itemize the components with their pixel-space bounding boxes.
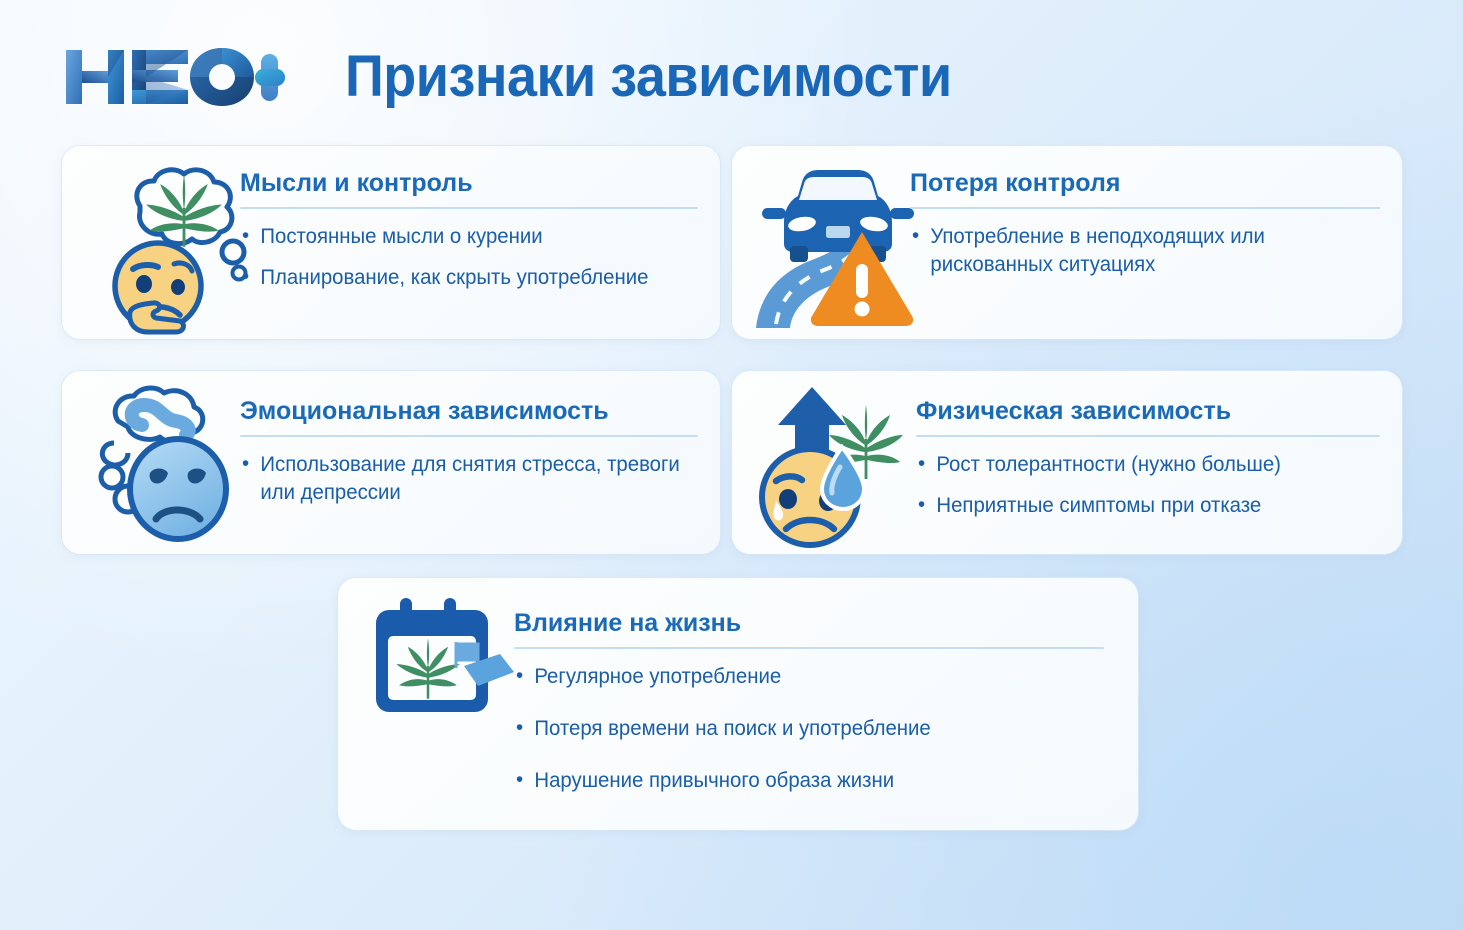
card-emotional-dependence: Эмоциональная зависимость Использование … [62,371,720,554]
neo-plus-logo [62,44,287,110]
bullet-list: Использование для снятия стресса, тревог… [240,451,698,507]
list-item: Использование для снятия стресса, тревог… [240,451,684,507]
car-on-road-with-warning-triangle-icon [746,156,926,331]
list-item: Рост толерантности (нужно больше) [916,451,1366,479]
calendar-with-cannabis-leaf-icon [368,596,518,726]
bullet-list: Регулярное употребление Потеря времени н… [514,663,1104,795]
card-impact-on-life: Влияние на жизнь Регулярное употребление… [338,578,1138,830]
list-item: Неприятные симптомы при отказе [916,492,1366,520]
heading-divider [910,207,1380,209]
card-heading: Потеря контроля [910,168,1380,198]
card-heading: Мысли и контроль [240,168,698,198]
bullet-list: Рост толерантности (нужно больше) Неприя… [916,451,1380,520]
heading-divider [916,435,1380,437]
heading-divider [514,647,1104,649]
card-physical-dependence: Физическая зависимость Рост толерантност… [732,371,1402,554]
card-heading: Влияние на жизнь [514,608,1104,638]
list-item: Потеря времени на поиск и употребление [514,715,1086,743]
list-item: Регулярное употребление [514,663,1086,691]
card-heading: Физическая зависимость [916,396,1380,426]
card-loss-of-control: Потеря контроля Употребление в неподходя… [732,146,1402,339]
list-item: Планирование, как скрыть употребление [240,264,684,292]
list-item: Постоянные мысли о курении [240,223,684,251]
page-header: Признаки зависимости [0,0,1463,140]
list-item: Употребление в неподходящих или рискован… [910,223,1366,279]
worried-sweating-face-with-up-arrow-and-cannabis-icon [748,379,928,551]
bullet-list: Постоянные мысли о курении Планирование,… [240,223,698,292]
heading-divider [240,435,698,437]
card-heading: Эмоциональная зависимость [240,396,698,426]
list-item: Нарушение привычного образа жизни [514,767,1086,795]
page-title: Признаки зависимости [345,44,952,110]
neo-plus-logo-svg [62,44,287,110]
card-thoughts-and-control: Мысли и контроль Постоянные мысли о куре… [62,146,720,339]
heading-divider [240,207,698,209]
bullet-list: Употребление в неподходящих или рискован… [910,223,1380,279]
